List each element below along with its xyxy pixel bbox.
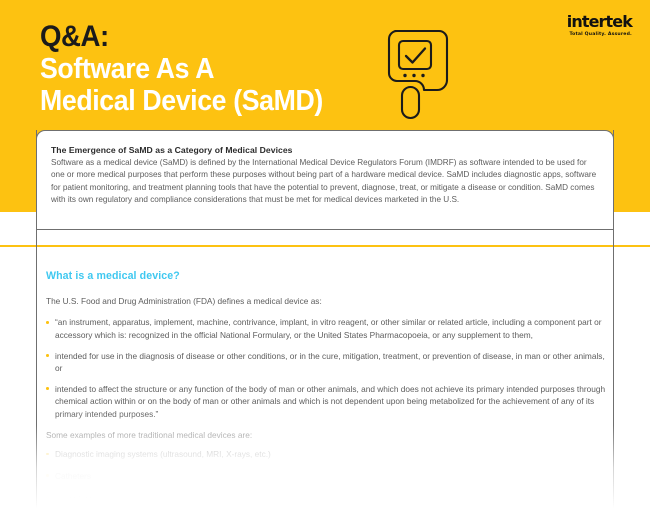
intertek-logo: intertek Total Quality. Assured. — [567, 14, 632, 38]
definition-bullet-list: “an instrument, apparatus, implement, ma… — [46, 316, 610, 420]
header-title-line-1: Software As A — [40, 53, 344, 85]
logo-wordmark: intertek — [567, 14, 632, 30]
list-item: Pacemakers — [46, 491, 610, 504]
section-divider — [0, 245, 650, 247]
card-right-edge — [613, 130, 614, 520]
list-item: Catheters — [46, 470, 610, 483]
glucose-meter-check-icon — [381, 28, 453, 129]
examples-lead: Some examples of more traditional medica… — [46, 429, 610, 441]
list-item: intended for use in the diagnosis of dis… — [46, 350, 610, 375]
logo-tagline: Total Quality. Assured. — [567, 33, 632, 38]
body-content: What is a medical device? The U.S. Food … — [0, 258, 650, 520]
list-item: intended to affect the structure or any … — [46, 383, 610, 421]
intro-card: The Emergence of SaMD as a Category of M… — [36, 130, 614, 230]
list-item: Syringes (considered a combination devic… — [46, 513, 610, 520]
section-title: What is a medical device? — [46, 270, 610, 282]
list-item: “an instrument, apparatus, implement, ma… — [46, 316, 610, 341]
qa-label: Q&A: — [40, 22, 344, 52]
intro-card-heading: The Emergence of SaMD as a Category of M… — [51, 145, 597, 155]
intro-card-paragraph: Software as a medical device (SaMD) is d… — [51, 157, 597, 207]
list-item: Diagnostic imaging systems (ultrasound, … — [46, 448, 610, 461]
card-left-edge — [36, 130, 37, 520]
header-title-line-2: Medical Device (SaMD) — [40, 85, 344, 117]
header-title-block: Q&A: Software As A Medical Device (SaMD) — [40, 22, 370, 118]
section-lead: The U.S. Food and Drug Administration (F… — [46, 295, 610, 307]
examples-bullet-list: Diagnostic imaging systems (ultrasound, … — [46, 448, 610, 520]
